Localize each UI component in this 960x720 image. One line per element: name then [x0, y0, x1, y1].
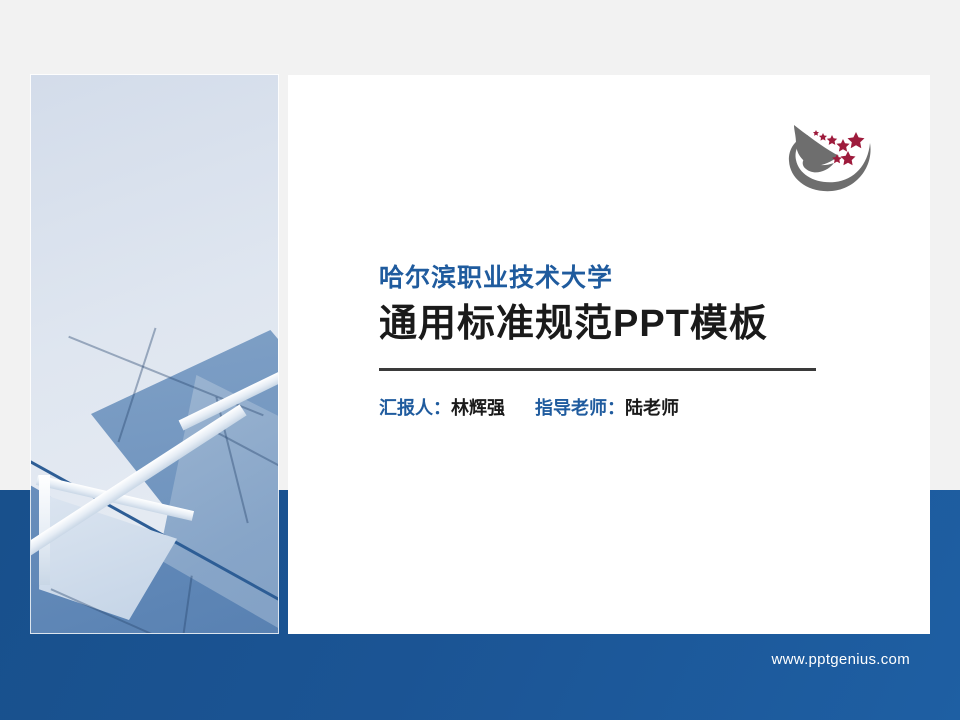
- presenter-label: 汇报人：: [379, 398, 451, 418]
- presenter-name: 林辉强: [451, 398, 505, 418]
- page-title: 通用标准规范PPT模板: [379, 303, 849, 347]
- presentation-slide: 哈尔滨职业技术大学 通用标准规范PPT模板 汇报人：林辉强指导老师：陆老师 ww…: [0, 0, 960, 720]
- footer-website-url: www.pptgenius.com: [772, 651, 911, 668]
- advisor-label: 指导老师：: [535, 398, 625, 418]
- advisor-name: 陆老师: [625, 398, 679, 418]
- presenter-info-row: 汇报人：林辉强指导老师：陆老师: [379, 397, 849, 420]
- title-divider: [379, 368, 816, 371]
- university-logo: [782, 105, 882, 205]
- architecture-photo-panel: [31, 75, 278, 633]
- title-text-block: 哈尔滨职业技术大学 通用标准规范PPT模板 汇报人：林辉强指导老师：陆老师: [379, 265, 849, 421]
- architecture-photo: [31, 75, 278, 633]
- university-name: 哈尔滨职业技术大学: [379, 265, 849, 293]
- main-content-card: 哈尔滨职业技术大学 通用标准规范PPT模板 汇报人：林辉强指导老师：陆老师: [288, 75, 930, 634]
